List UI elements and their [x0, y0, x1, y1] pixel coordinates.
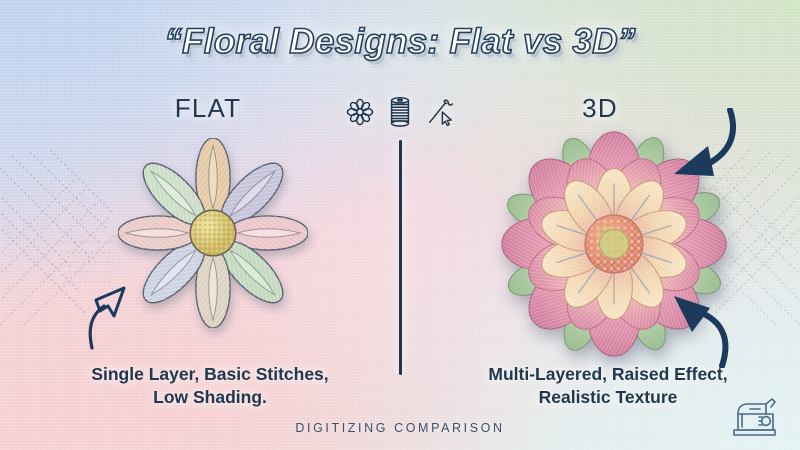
flower-icon — [345, 97, 375, 127]
needle-and-thread-icon — [425, 97, 455, 127]
flat-embroidered-flower — [118, 138, 308, 328]
vertical-divider — [399, 140, 402, 375]
arrow-pointing-to-flat-flower — [78, 282, 140, 350]
center-icon-row — [318, 90, 482, 134]
caption-flat-line1: Single Layer, Basic Stitches, — [91, 364, 328, 384]
caption-3d: Multi-Layered, Raised Effect, Realistic … — [448, 363, 768, 409]
arrow-pointing-to-3d-flower-top — [668, 108, 750, 184]
caption-flat: Single Layer, Basic Stitches, Low Shadin… — [40, 363, 380, 409]
poster-canvas: “Floral Designs: Flat vs 3D” FLAT 3D — [0, 0, 800, 450]
caption-3d-line2: Realistic Texture — [448, 386, 768, 409]
sewing-machine-icon — [728, 394, 780, 440]
thread-spool-icon — [387, 96, 413, 128]
caption-flat-line2: Low Shading. — [40, 386, 380, 409]
page-title: “Floral Designs: Flat vs 3D” — [0, 22, 800, 62]
column-label-flat: FLAT — [128, 93, 288, 124]
arrow-pointing-to-3d-flower-bottom — [666, 292, 744, 368]
footer-caption: DIGITIZING COMPARISON — [0, 421, 800, 435]
column-label-3d: 3D — [520, 93, 680, 124]
